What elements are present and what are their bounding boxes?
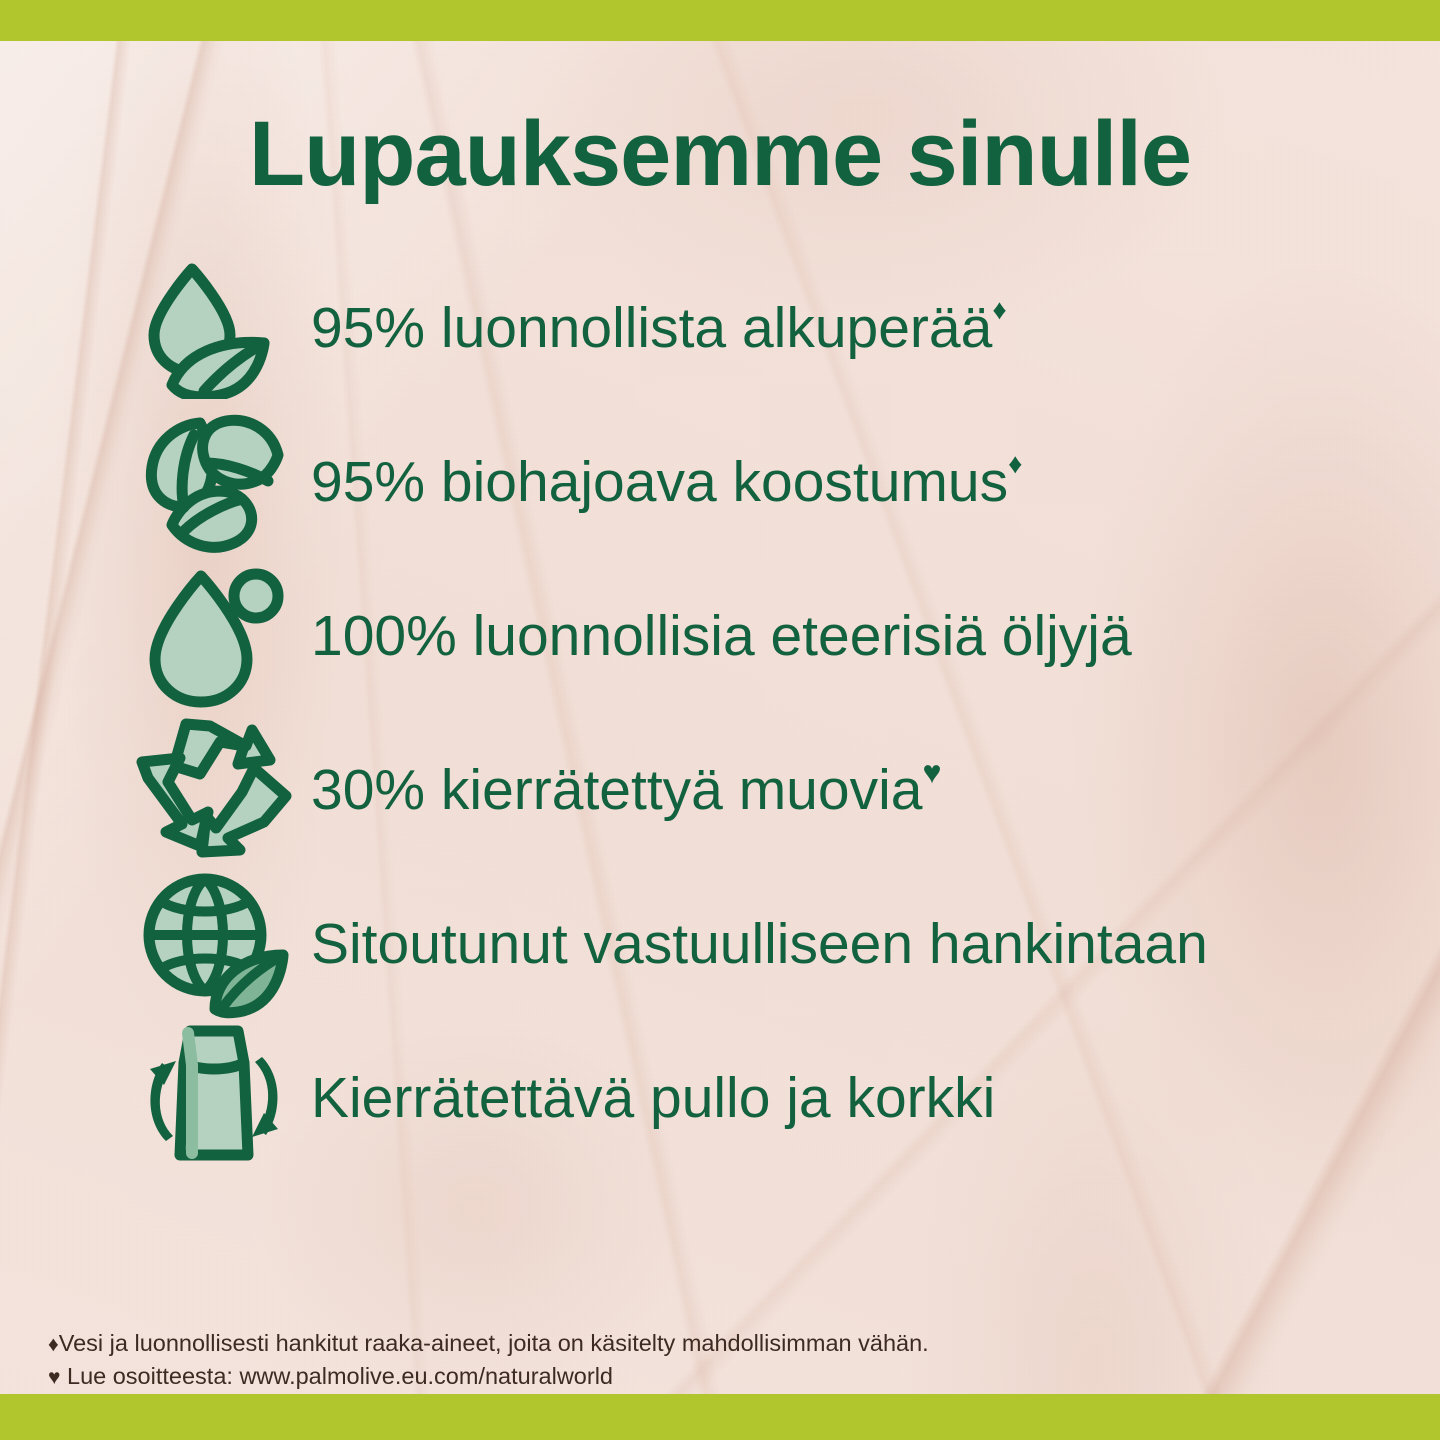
promise-item: Kierrätettävä pullo ja korkki: [126, 1022, 1416, 1176]
three-leaves-cycle-icon: [126, 408, 301, 558]
recycling-triangle-icon: [126, 716, 301, 866]
promise-label: Kierrätettävä pullo ja korkki: [301, 1068, 1416, 1130]
promise-item: 100% luonnollisia eteerisiä öljyjä: [126, 560, 1416, 714]
promise-item: Sitoutunut vastuulliseen hankintaan: [126, 868, 1416, 1022]
promise-item: 95% biohajoava koostumus♦: [126, 406, 1416, 560]
promise-label: 30% kierrätettyä muovia♥: [301, 760, 1416, 822]
footnote-marker-diamond: ♦: [992, 294, 1006, 325]
promise-list: 95% luonnollista alkuperää♦: [126, 252, 1416, 1176]
footnote-marker-heart: ♥: [922, 754, 941, 790]
page-title: Lupauksemme sinulle: [0, 106, 1440, 203]
recyclable-bottle-icon: [126, 1024, 301, 1174]
poster: Lupauksemme sinulle 95% luonnollista alk…: [0, 0, 1440, 1440]
poster-content: Lupauksemme sinulle 95% luonnollista alk…: [0, 0, 1440, 1440]
promise-label: 100% luonnollisia eteerisiä öljyjä: [301, 606, 1416, 668]
essential-oil-droplet-icon: [126, 562, 301, 712]
promise-item: 95% luonnollista alkuperää♦: [126, 252, 1416, 406]
globe-leaf-icon: [126, 870, 301, 1020]
top-brand-band: [0, 0, 1440, 41]
promise-label: 95% biohajoava koostumus♦: [301, 452, 1416, 514]
footnotes: ♦Vesi ja luonnollisesti hankitut raaka-a…: [48, 1327, 929, 1394]
footnote-line: ♦Vesi ja luonnollisesti hankitut raaka-a…: [48, 1327, 929, 1360]
promise-item: 30% kierrätettyä muovia♥: [126, 714, 1416, 868]
footnote-marker-diamond: ♦: [48, 1333, 59, 1356]
footnote-line: ♥ Lue osoitteesta: www.palmolive.eu.com/…: [48, 1360, 929, 1393]
bottom-brand-band: [0, 1394, 1440, 1440]
promise-label: Sitoutunut vastuulliseen hankintaan: [301, 914, 1416, 976]
promise-label: 95% luonnollista alkuperää♦: [301, 298, 1416, 360]
droplet-leaf-icon: [126, 254, 301, 404]
footnote-marker-diamond: ♦: [1008, 448, 1022, 479]
footnote-marker-heart: ♥: [48, 1366, 60, 1389]
